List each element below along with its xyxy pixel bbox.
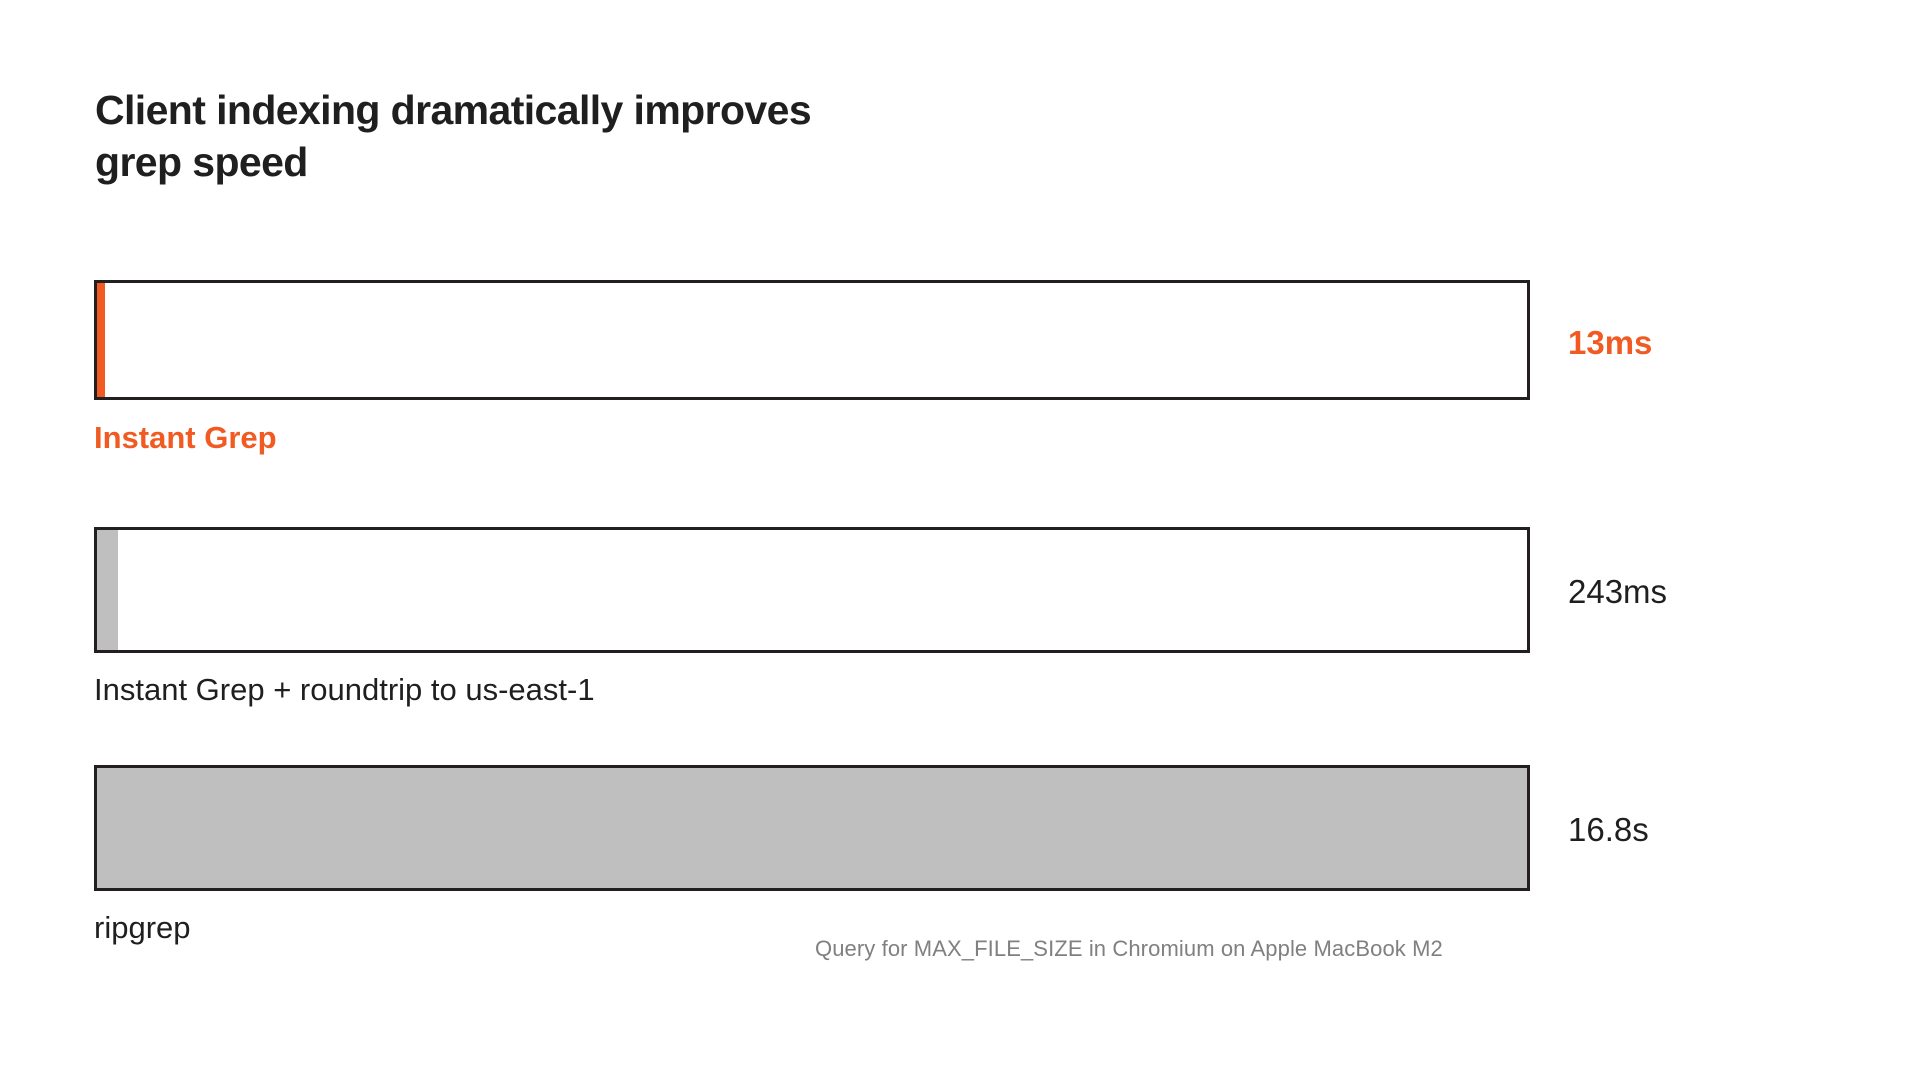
bar-track[interactable] xyxy=(94,527,1530,653)
bar-value-instant-grep-roundtrip: 243ms xyxy=(1568,575,1667,608)
chart-footnote: Query for MAX_FILE_SIZE in Chromium on A… xyxy=(815,938,1443,960)
bar-label-ripgrep: ripgrep xyxy=(94,912,191,943)
chart-slide: Client indexing dramatically improves gr… xyxy=(0,0,1920,1080)
bar-fill xyxy=(97,283,105,397)
bar-label-instant-grep-roundtrip: Instant Grep + roundtrip to us-east-1 xyxy=(94,674,595,705)
bar-value-instant-grep: 13ms xyxy=(1568,326,1652,359)
bar-group-instant-grep-roundtrip: Instant Grep + roundtrip to us-east-1 24… xyxy=(94,527,1530,653)
bar-fill xyxy=(97,768,1527,888)
bar-track[interactable] xyxy=(94,765,1530,891)
bar-group-ripgrep: ripgrep 16.8s xyxy=(94,765,1530,891)
bar-fill xyxy=(97,530,118,650)
bar-label-instant-grep: Instant Grep xyxy=(94,422,277,453)
bar-group-instant-grep: Instant Grep 13ms xyxy=(94,280,1530,400)
bar-track[interactable] xyxy=(94,280,1530,400)
bar-chart: Instant Grep 13ms Instant Grep + roundtr… xyxy=(0,0,1920,1080)
bar-value-ripgrep: 16.8s xyxy=(1568,813,1649,846)
